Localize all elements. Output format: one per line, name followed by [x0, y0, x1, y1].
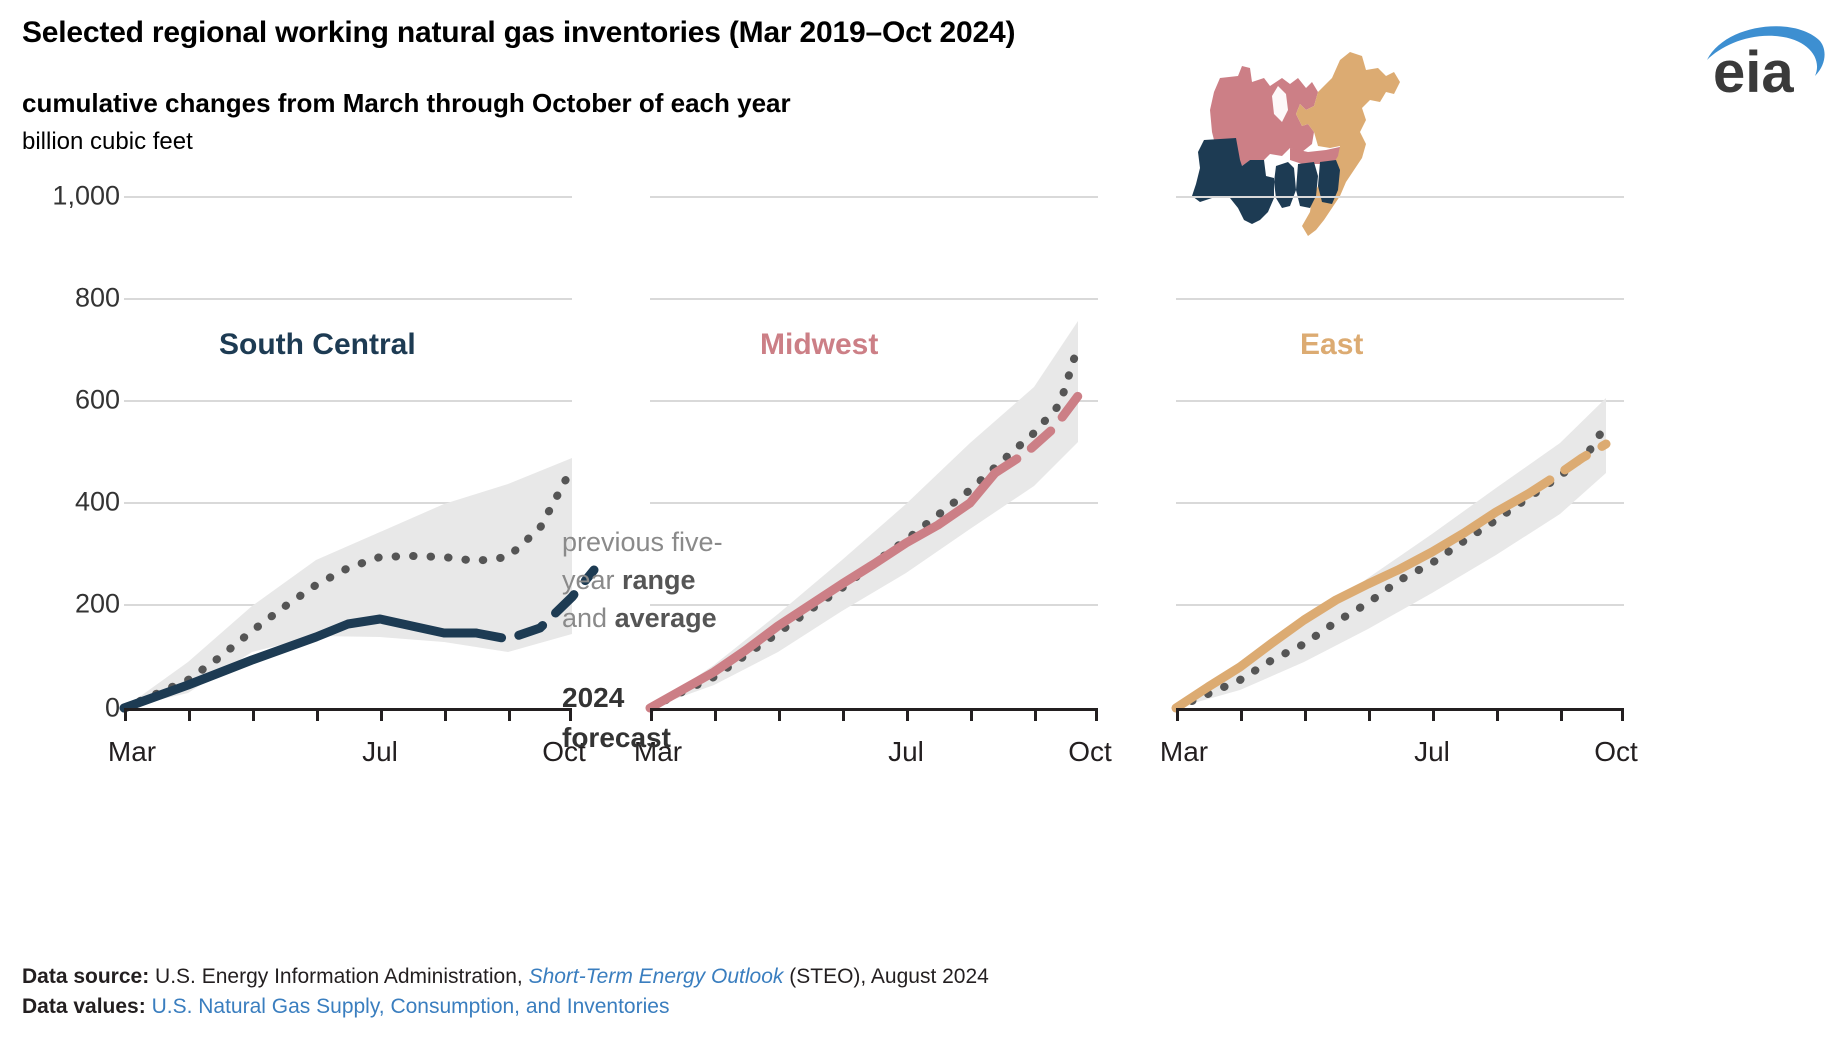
footer-values-label: Data values:	[22, 995, 146, 1018]
xtick-jul-e	[1432, 710, 1435, 721]
footer-source-link[interactable]: Short-Term Energy Outlook	[529, 965, 784, 988]
x-axis-south-central	[124, 708, 572, 711]
axis-units-label: billion cubic feet	[22, 128, 193, 156]
range-band-midwest	[650, 321, 1078, 708]
xlabel-jul-mw: Jul	[888, 736, 924, 768]
panel-east: East Mar Jul Oct	[1176, 160, 1624, 860]
xtick-sep-mw	[1034, 710, 1037, 721]
legend-range-line2-plain: year	[562, 565, 622, 595]
legend-average-bold: average	[615, 603, 717, 633]
xlabel-jul-e: Jul	[1414, 736, 1450, 768]
xlabel-oct-mw: Oct	[1068, 736, 1112, 768]
y-tick-0: 0	[105, 693, 120, 724]
xtick-jun-sc	[316, 710, 319, 721]
xtick-aug-e	[1496, 710, 1499, 721]
legend-range-average-annotation: previous five- year range and average	[562, 523, 792, 637]
footer-source-text: U.S. Energy Information Administration,	[149, 965, 528, 988]
page-subtitle: cumulative changes from March through Oc…	[22, 88, 791, 119]
svg-text:eia: eia	[1713, 40, 1794, 105]
legend-forecast-word: forecast	[562, 722, 671, 753]
y-tick-200: 200	[75, 589, 120, 620]
legend-range-line3-plain: and	[562, 603, 615, 633]
legend-range-bold: range	[622, 565, 696, 595]
xtick-aug-mw	[970, 710, 973, 721]
xtick-jul-sc	[380, 710, 383, 721]
footer-notes: Data source: U.S. Energy Information Adm…	[22, 962, 989, 1022]
xlabel-oct-e: Oct	[1594, 736, 1638, 768]
series-group-south-central	[124, 160, 572, 710]
chart-canvas: 1,000 800 600 400 200 0 South Central	[0, 160, 1844, 860]
xtick-may-sc	[252, 710, 255, 721]
footer-data-source-row: Data source: U.S. Energy Information Adm…	[22, 962, 989, 992]
y-tick-1000: 1,000	[52, 181, 120, 212]
footer-source-tail: (STEO), August 2024	[783, 965, 988, 988]
y-tick-600: 600	[75, 385, 120, 416]
y-axis-labels: 1,000 800 600 400 200 0	[0, 160, 120, 860]
xtick-sep-e	[1560, 710, 1563, 721]
footer-values-link[interactable]: U.S. Natural Gas Supply, Consumption, an…	[152, 995, 670, 1018]
range-band-south-central	[124, 458, 572, 708]
xtick-mar-sc	[124, 710, 127, 721]
eia-logo: eia	[1697, 18, 1829, 96]
footer-data-values-row: Data values: U.S. Natural Gas Supply, Co…	[22, 992, 989, 1022]
xlabel-mar-sc: Mar	[108, 736, 156, 768]
y-tick-800: 800	[75, 283, 120, 314]
xtick-jul-mw	[906, 710, 909, 721]
legend-forecast-year: 2024	[562, 682, 624, 713]
xtick-mar-e	[1176, 710, 1179, 721]
xtick-oct-mw	[1095, 710, 1098, 721]
xlabel-mar-e: Mar	[1160, 736, 1208, 768]
xtick-aug-sc	[444, 710, 447, 721]
legend-forecast-annotation: 2024 forecast	[562, 678, 782, 758]
page-title: Selected regional working natural gas in…	[22, 16, 1015, 50]
x-axis-east	[1176, 708, 1624, 711]
xtick-apr-e	[1240, 710, 1243, 721]
xtick-jun-e	[1368, 710, 1371, 721]
footer-source-label: Data source:	[22, 965, 149, 988]
xtick-apr-sc	[188, 710, 191, 721]
panel-south-central: South Central Mar Jul Oct	[124, 160, 572, 860]
xtick-oct-e	[1621, 710, 1624, 721]
y-tick-400: 400	[75, 487, 120, 518]
xlabel-jul-sc: Jul	[362, 736, 398, 768]
series-group-east	[1176, 160, 1624, 710]
legend-range-line1: previous five-	[562, 527, 723, 557]
xtick-may-e	[1304, 710, 1307, 721]
eia-chart-page: Selected regional working natural gas in…	[0, 0, 1844, 1054]
xtick-sep-sc	[508, 710, 511, 721]
xtick-jun-mw	[842, 710, 845, 721]
